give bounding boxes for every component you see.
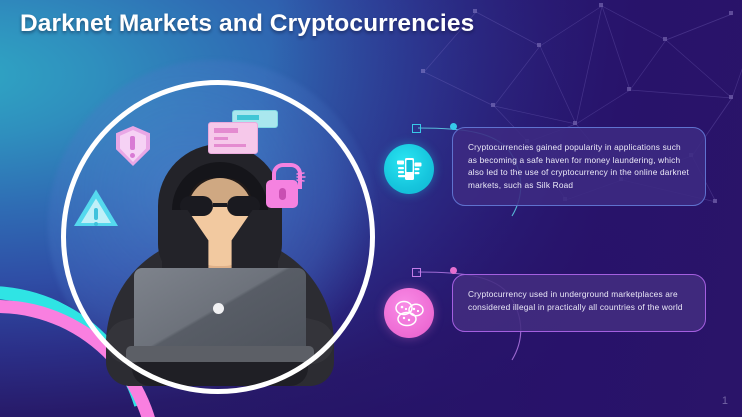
- white-circle-ring: [61, 80, 375, 394]
- content-text-2: Cryptocurrency used in underground marke…: [468, 288, 690, 313]
- coins-glyph: [393, 298, 425, 328]
- content-card-1: Cryptocurrencies gained popularity in ap…: [452, 127, 706, 206]
- hand-holding-phone-icon: [384, 144, 434, 194]
- page-number: 1: [722, 395, 728, 407]
- connector-node-square-2: [412, 268, 421, 277]
- page-title: Darknet Markets and Cryptocurrencies: [20, 10, 474, 38]
- content-card-2: Cryptocurrency used in underground marke…: [452, 274, 706, 332]
- slide-canvas: Darknet Markets and Cryptocurrencies: [0, 0, 742, 417]
- connector-node-square-1: [412, 124, 421, 133]
- hand-phone-glyph: [394, 154, 424, 184]
- crypto-coins-icon: [384, 288, 434, 338]
- content-text-1: Cryptocurrencies gained popularity in ap…: [468, 141, 690, 191]
- connector-node-dot-2: [450, 267, 457, 274]
